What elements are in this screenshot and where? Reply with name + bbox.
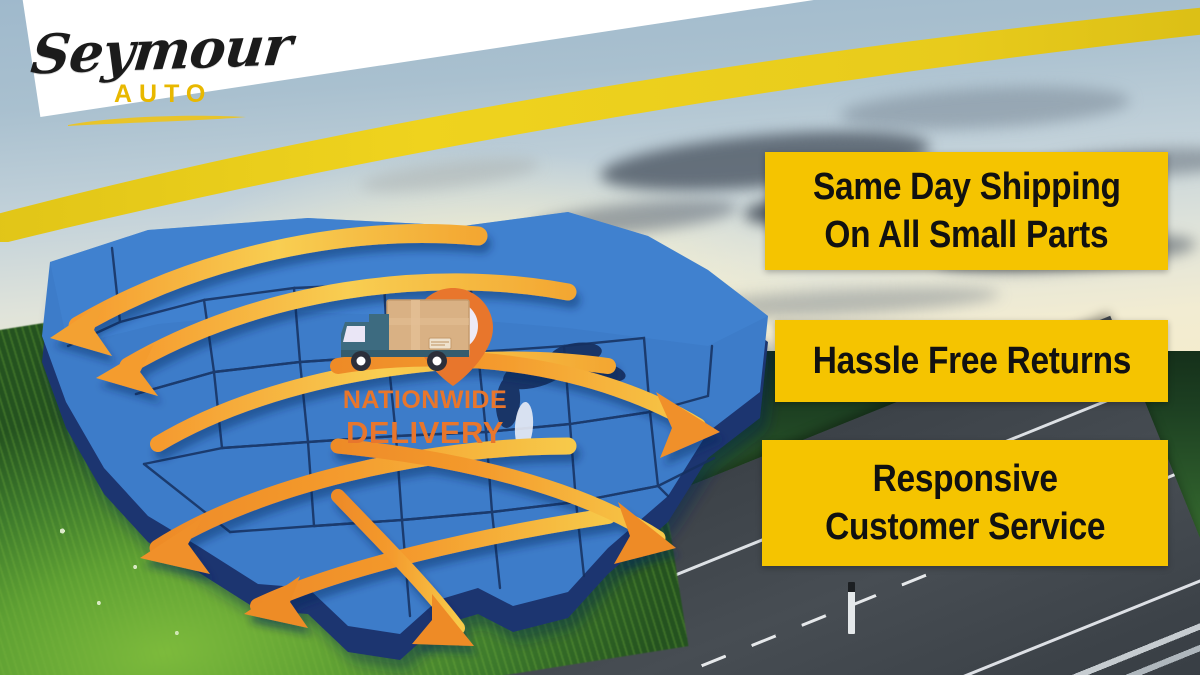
logo-underline-swoosh <box>66 114 248 127</box>
banner-line: On All Small Parts <box>825 215 1109 255</box>
delivery-caption-line2: DELIVERY <box>325 417 525 448</box>
road-marker-post <box>848 582 855 634</box>
banner-line: Customer Service <box>825 507 1105 547</box>
delivery-caption: NATIONWIDE DELIVERY <box>325 388 525 448</box>
logo-sub-name: AUTO <box>114 80 212 109</box>
promo-banner: Seymour AUTO <box>0 0 1200 675</box>
delivery-graphic <box>325 282 525 392</box>
nationwide-delivery-badge: NATIONWIDE DELIVERY <box>325 282 525 452</box>
feature-banner-responsive-customer-service[interactable]: Responsive Customer Service <box>762 440 1168 566</box>
banner-line: Responsive <box>872 459 1057 499</box>
logo-script-name: Seymour <box>28 14 294 87</box>
banner-line: Same Day Shipping <box>813 167 1121 207</box>
feature-banner-same-day-shipping[interactable]: Same Day Shipping On All Small Parts <box>765 152 1168 270</box>
delivery-caption-line1: NATIONWIDE <box>325 388 525 413</box>
banner-line: Hassle Free Returns <box>812 341 1130 381</box>
feature-banner-hassle-free-returns[interactable]: Hassle Free Returns <box>775 320 1168 402</box>
brand-logo[interactable]: Seymour AUTO <box>26 18 256 118</box>
